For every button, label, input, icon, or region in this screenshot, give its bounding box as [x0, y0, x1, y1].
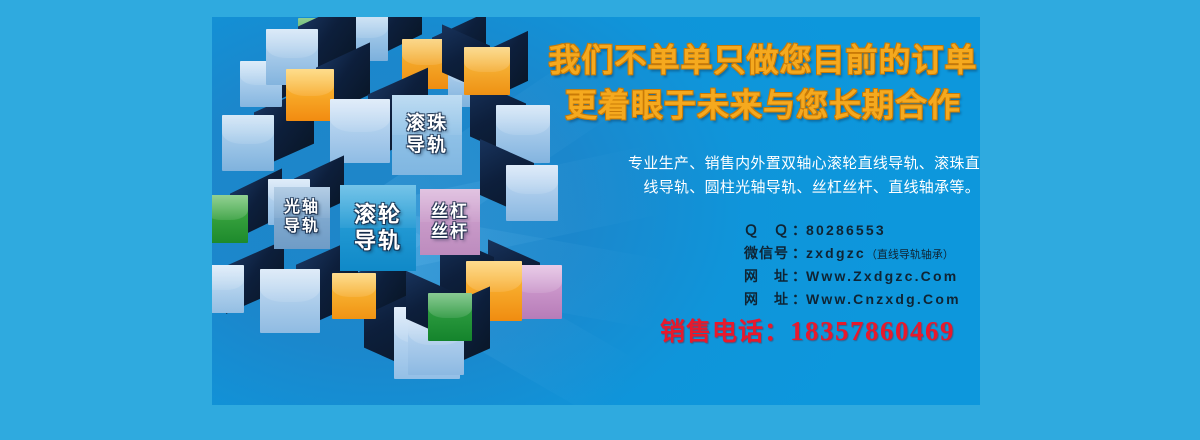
contact-row-website-1: 网 址： Www.Zxdgzc.Com	[744, 266, 961, 289]
decorative-cube	[212, 265, 244, 313]
contact-value-website-1[interactable]: Www.Zxdgzc.Com	[806, 268, 958, 284]
product-cube-label-line2: 导轨	[284, 218, 320, 237]
product-cube-label-line2: 丝杆	[431, 222, 469, 242]
page-root: 滚珠 导轨 光轴 导轨 滚轮 导轨	[0, 0, 1200, 440]
company-description: 专业生产、销售内外置双轴心滚轮直线导轨、滚珠直线导轨、圆柱光轴导轨、丝杠丝杆、直…	[628, 152, 980, 201]
product-cube-label-line2: 导轨	[354, 228, 402, 254]
product-cube-lead-screw[interactable]: 丝杠 丝杆	[420, 189, 480, 255]
decorative-cube	[212, 195, 248, 243]
headline-line-1: 我们不单单只做您目前的订单	[548, 38, 978, 83]
contact-note-wechat: （直线导轨轴承）	[866, 246, 954, 262]
product-cube-label-line1: 丝杠	[431, 202, 469, 222]
product-cube-label-line1: 滚珠	[406, 113, 448, 135]
sales-phone-block[interactable]: 销售电话：18357860469	[660, 312, 955, 348]
product-cube-rolling-ball-guide[interactable]: 滚珠 导轨	[392, 95, 462, 175]
product-cube-label-line1: 滚轮	[354, 202, 402, 228]
decorative-cube	[222, 115, 274, 171]
product-cube-roller-guide[interactable]: 滚轮 导轨	[340, 185, 416, 271]
contact-value-qq[interactable]: 80286553	[806, 222, 886, 238]
decorative-cube	[428, 293, 472, 341]
contact-row-wechat: 微信号： zxdgzc （直线导轨轴承）	[744, 243, 961, 266]
product-cube-label-line2: 导轨	[406, 135, 448, 157]
sales-phone-number[interactable]: 18357860469	[790, 316, 955, 346]
contact-value-wechat[interactable]: zxdgzc	[806, 245, 866, 261]
contact-value-website-2[interactable]: Www.Cnzxdg.Com	[806, 291, 961, 307]
contact-label: 网 址：	[744, 289, 806, 309]
contact-label: Ｑ Ｑ：	[744, 220, 806, 240]
decorative-cube	[332, 273, 376, 319]
decorative-cube	[506, 165, 558, 221]
decorative-cube	[464, 47, 510, 95]
contact-row-website-2: 网 址： Www.Cnzxdg.Com	[744, 289, 961, 312]
decorative-cube	[260, 269, 320, 333]
headline-block: 我们不单单只做您目前的订单 更着眼于未来与您长期合作	[548, 38, 978, 129]
headline-line-2: 更着眼于未来与您长期合作	[548, 83, 978, 128]
contact-row-qq: Ｑ Ｑ： 80286553	[744, 220, 961, 243]
product-cube-optical-axis-guide[interactable]: 光轴 导轨	[274, 187, 330, 249]
contact-info-block: Ｑ Ｑ： 80286553 微信号： zxdgzc （直线导轨轴承） 网 址： …	[744, 220, 961, 312]
contact-label: 微信号：	[744, 243, 806, 263]
sales-phone-label: 销售电话：	[660, 318, 790, 346]
decorative-cube	[330, 99, 390, 163]
decorative-cube	[286, 69, 334, 121]
product-cube-label-line1: 光轴	[284, 199, 320, 218]
exploding-cubes-graphic: 滚珠 导轨 光轴 导轨 滚轮 导轨	[212, 17, 562, 405]
contact-label: 网 址：	[744, 266, 806, 286]
